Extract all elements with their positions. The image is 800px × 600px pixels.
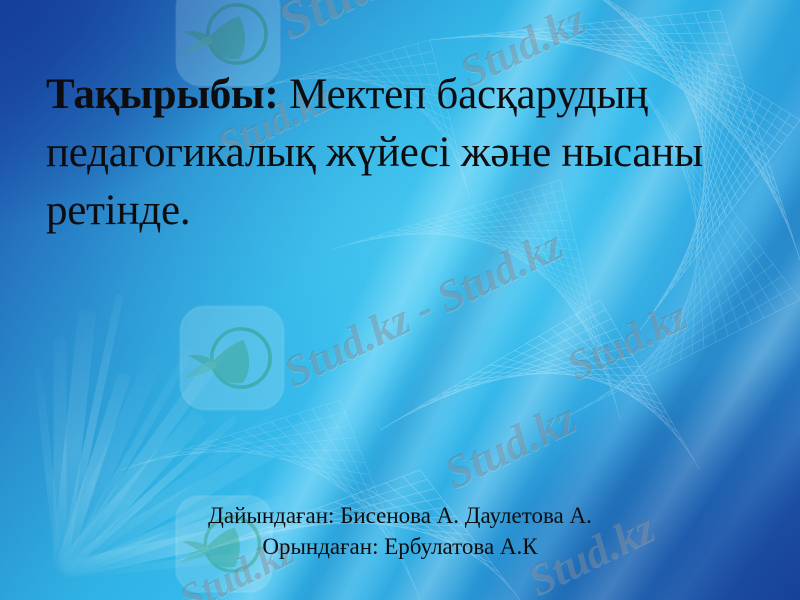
slide-title: Тақырыбы: Мектеп басқарудың педагогикалы… — [46, 66, 766, 240]
author-performed-by: Орындаған: Ербулатова А.К — [0, 531, 800, 562]
slide-authors: Дайындаған: Бисенова А. Даулетова А. Оры… — [0, 500, 800, 562]
author-prepared-by: Дайындаған: Бисенова А. Даулетова А. — [0, 500, 800, 531]
presentation-slide: Stud.kz Stud.kz Stud.kz Stud.kz - Stud.k… — [0, 0, 800, 600]
slide-title-label: Тақырыбы: — [46, 71, 279, 118]
